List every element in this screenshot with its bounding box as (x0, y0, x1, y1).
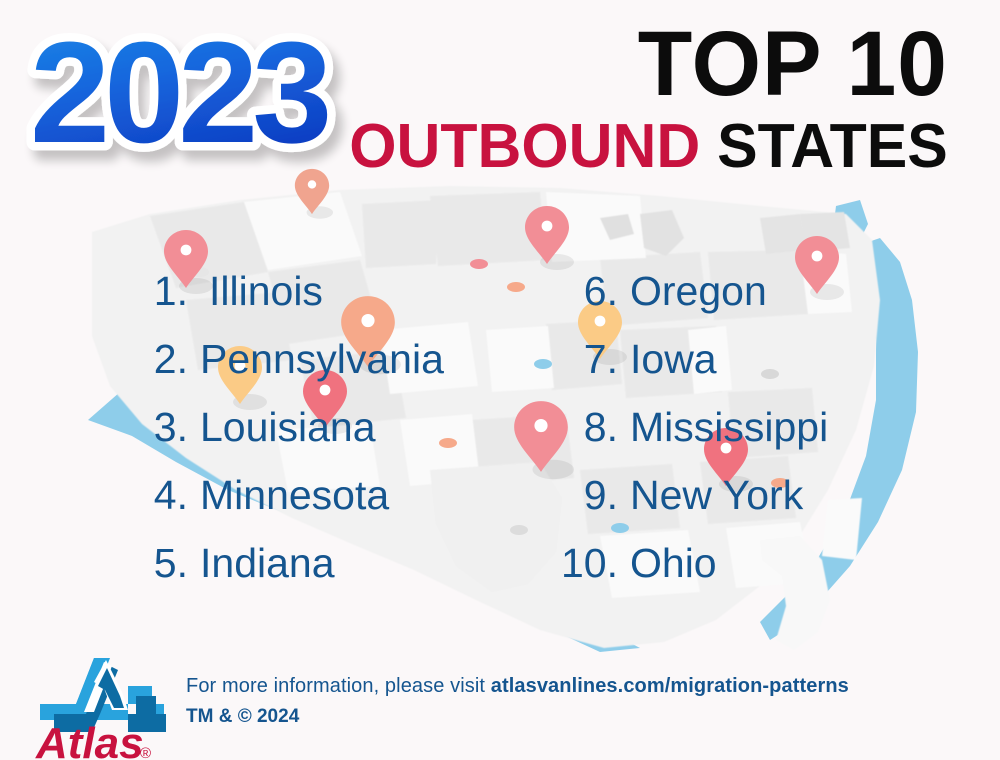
title-word-states: STATES (700, 112, 948, 181)
page-title-bottom: OUTBOUND STATES (349, 116, 948, 178)
list-item-state-name: Ohio (630, 540, 717, 587)
list-item-state-name: Mississippi (630, 404, 828, 451)
list-item-state-name: Oregon (630, 268, 767, 315)
title-word-outbound: OUTBOUND (349, 112, 700, 181)
list-item: 8.Mississippi (560, 404, 960, 472)
list-item-state-name: Illinois (200, 268, 323, 315)
list-item-rank: 7. (560, 336, 618, 383)
list-item-rank: 3. (146, 404, 188, 451)
footer-url-link[interactable]: atlasvanlines.com/migration-patterns (491, 675, 849, 697)
year-fill: 2023 (30, 12, 327, 173)
atlas-wordmark: Atlas (35, 719, 144, 760)
list-item-rank: 10. (560, 540, 618, 587)
footer-text-block: For more information, please visit atlas… (186, 672, 849, 731)
list-item-rank: 1. (146, 268, 188, 315)
list-item-state-name: Pennsylvania (200, 336, 444, 383)
list-item: 3.Louisiana (146, 404, 566, 472)
footer-info-line: For more information, please visit atlas… (186, 672, 849, 701)
list-item-rank: 2. (146, 336, 188, 383)
list-item: 10.Ohio (560, 540, 960, 608)
list-item-rank: 8. (560, 404, 618, 451)
map-pin-hole (812, 251, 823, 262)
list-item: 2.Pennsylvania (146, 336, 566, 404)
list-item-rank: 6. (560, 268, 618, 315)
outbound-states-list-left: 1.Illinois2.Pennsylvania3.Louisiana4.Min… (146, 268, 566, 608)
title-block: TOP 10 OUTBOUND STATES (337, 18, 948, 178)
infographic-canvas: 2023 2023 TOP 10 OUTBOUND STATES 1.Illin… (0, 0, 1000, 760)
atlas-logo: Atlas ® (32, 642, 172, 760)
footer: Atlas ® For more information, please vis… (0, 640, 1000, 760)
list-item: 4.Minnesota (146, 472, 566, 540)
list-item-state-name: Minnesota (200, 472, 389, 519)
list-item-state-name: Iowa (630, 336, 717, 383)
footer-copyright: TM & © 2024 (186, 703, 849, 731)
list-item-state-name: Indiana (200, 540, 335, 587)
list-item: 1.Illinois (146, 268, 566, 336)
map-pin-hole (181, 245, 192, 256)
outbound-states-list-right: 6.Oregon7.Iowa8.Mississippi9.New York10.… (560, 268, 960, 608)
list-item: 5.Indiana (146, 540, 566, 608)
list-item-state-name: New York (630, 472, 803, 519)
list-item: 7.Iowa (560, 336, 960, 404)
list-item-state-name: Louisiana (200, 404, 376, 451)
map-pin-hole (542, 221, 553, 232)
list-item-rank: 5. (146, 540, 188, 587)
map-pin-hole (308, 180, 316, 188)
list-item-rank: 4. (146, 472, 188, 519)
list-item-rank: 9. (560, 472, 618, 519)
list-item: 6.Oregon (560, 268, 960, 336)
footer-intro-text: For more information, please visit (186, 675, 491, 697)
list-item: 9.New York (560, 472, 960, 540)
registered-mark: ® (140, 745, 151, 760)
page-title-top: TOP 10 (356, 18, 948, 110)
